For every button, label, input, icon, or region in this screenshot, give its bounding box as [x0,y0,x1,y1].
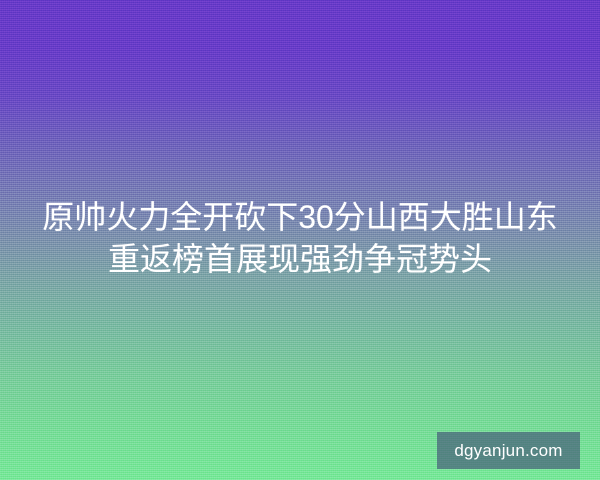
page-title: 原帅火力全开砍下30分山西大胜山东重返榜首展现强劲争冠势头 [0,196,600,280]
watermark-label: dgyanjun.com [454,442,562,459]
poster-image: 原帅火力全开砍下30分山西大胜山东重返榜首展现强劲争冠势头 dgyanjun.c… [0,0,600,480]
watermark-badge: dgyanjun.com [437,432,580,469]
